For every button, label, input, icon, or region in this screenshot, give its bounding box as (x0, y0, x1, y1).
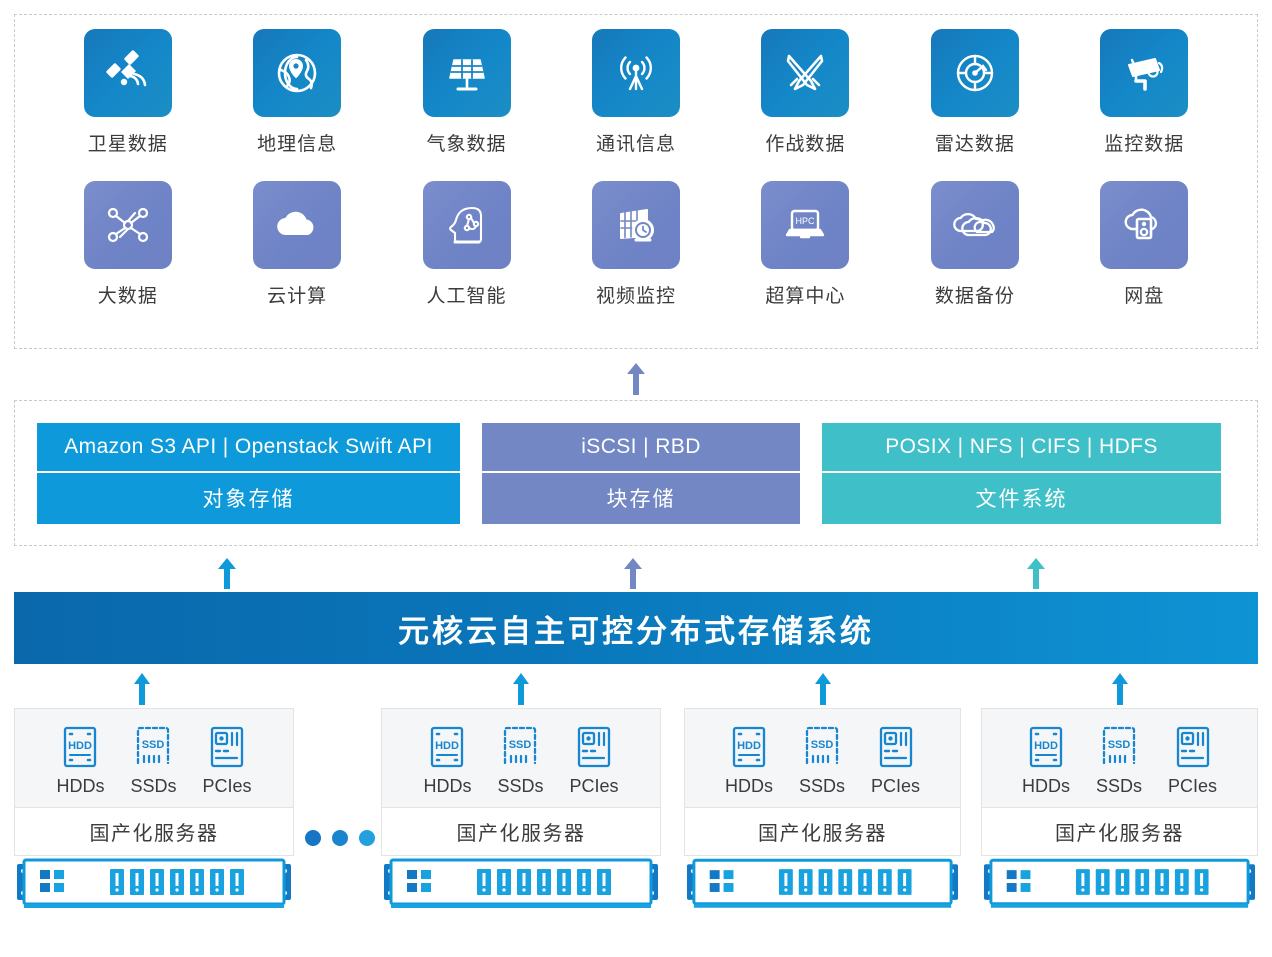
arrow-system-to-file-system (1022, 557, 1050, 590)
ellipsis-dot (332, 830, 348, 846)
svg-text:SSD: SSD (142, 739, 165, 751)
interface-name: 块存储 (482, 473, 800, 524)
app-item-geo-info[interactable]: 地理信息 (212, 29, 381, 181)
geo-globe-pin-icon (253, 29, 341, 117)
interface-api-list: iSCSI | RBD (482, 423, 800, 473)
antenna-signal-icon (592, 29, 680, 117)
svg-text:HDD: HDD (737, 740, 761, 752)
cloud-drive-icon (1100, 181, 1188, 269)
svg-text:SSD: SSD (1108, 739, 1131, 751)
interface-card-object-storage[interactable]: Amazon S3 API | Openstack Swift API 对象存储 (37, 423, 460, 524)
hpc-laptop-icon: HPC (761, 181, 849, 269)
arrow-server-3-to-system (810, 672, 836, 706)
app-label: 视频监控 (596, 281, 676, 308)
interface-card-file-system[interactable]: POSIX | NFS | CIFS | HDFS 文件系统 (822, 423, 1221, 524)
app-label: 雷达数据 (935, 129, 1015, 156)
app-item-cloud-drive[interactable]: 网盘 (1060, 181, 1229, 333)
crossed-swords-icon (761, 29, 849, 117)
server-name: 国产化服务器 (685, 807, 960, 855)
interface-api-list: POSIX | NFS | CIFS | HDFS (822, 423, 1221, 473)
server-card: HDD HDDs SSD SSDs (684, 708, 961, 856)
drive-ssd: SSD SSDs (497, 725, 543, 797)
app-label: 网盘 (1124, 281, 1164, 308)
app-label: 气象数据 (427, 129, 507, 156)
drive-ssd: SSD SSDs (1096, 725, 1142, 797)
server-name: 国产化服务器 (15, 807, 293, 855)
network-nodes-icon (84, 181, 172, 269)
drive-label: PCIes (202, 776, 251, 797)
server-name: 国产化服务器 (982, 807, 1257, 855)
app-label: 超算中心 (765, 281, 845, 308)
architecture-diagram: 卫星数据 地理信息 (0, 0, 1272, 957)
drive-label: PCIes (1168, 776, 1217, 797)
app-label: 数据备份 (935, 281, 1015, 308)
app-item-weather[interactable]: 气象数据 (382, 29, 551, 181)
storage-interface-row: Amazon S3 API | Openstack Swift API 对象存储… (15, 401, 1257, 545)
drive-pcie: PCIes (202, 725, 251, 797)
arrow-server-1-to-system (129, 672, 155, 706)
svg-text:SSD: SSD (811, 739, 834, 751)
server-group-3[interactable]: HDD HDDs SSD SSDs (684, 708, 961, 917)
storage-interface-panel: Amazon S3 API | Openstack Swift API 对象存储… (14, 400, 1258, 546)
rack-unit (381, 858, 661, 917)
interface-card-block-storage[interactable]: iSCSI | RBD 块存储 (482, 423, 800, 524)
satellite-icon (84, 29, 172, 117)
server-card: HDD HDDs SSD SSDs (381, 708, 661, 856)
ellipsis-dot (305, 830, 321, 846)
app-item-video-surveillance[interactable]: 视频监控 (551, 181, 720, 333)
app-item-hpc-center[interactable]: HPC 超算中心 (721, 181, 890, 333)
drive-list: HDD HDDs SSD SSDs (382, 709, 660, 807)
interface-name: 文件系统 (822, 473, 1221, 524)
server-group-4[interactable]: HDD HDDs SSD SSDs (981, 708, 1258, 917)
app-label: 监控数据 (1104, 129, 1184, 156)
hpc-screen-label: HPC (796, 216, 816, 226)
server-card: HDD HDDs SSD SSDs (14, 708, 294, 856)
arrow-interfaces-to-apps (621, 362, 651, 396)
server-group-2[interactable]: HDD HDDs SSD SSDs (381, 708, 661, 917)
drive-ssd: SSD SSDs (130, 725, 176, 797)
drive-pcie: PCIes (871, 725, 920, 797)
drive-label: SSDs (497, 776, 543, 797)
rack-unit (981, 858, 1258, 917)
app-label: 大数据 (98, 281, 158, 308)
drive-hdd: HDD HDDs (725, 725, 773, 797)
drive-label: SSDs (1096, 776, 1142, 797)
app-label: 作战数据 (765, 129, 845, 156)
arrow-server-4-to-system (1107, 672, 1133, 706)
ai-brain-head-icon (423, 181, 511, 269)
app-item-ai[interactable]: 人工智能 (382, 181, 551, 333)
app-label: 云计算 (267, 281, 327, 308)
film-clock-icon (592, 181, 680, 269)
rack-unit (684, 858, 961, 917)
app-item-cloud-computing[interactable]: 云计算 (212, 181, 381, 333)
server-name: 国产化服务器 (382, 807, 660, 855)
server-group-1[interactable]: HDD HDDs SSD SSDs (14, 708, 294, 917)
drive-ssd: SSD SSDs (799, 725, 845, 797)
ellipsis-dot (359, 830, 375, 846)
server-card: HDD HDDs SSD SSDs (981, 708, 1258, 856)
svg-text:HDD: HDD (1034, 740, 1058, 752)
drive-label: HDDs (1022, 776, 1070, 797)
system-banner: 元核云自主可控分布式存储系统 (14, 592, 1258, 664)
app-label: 通讯信息 (596, 129, 676, 156)
drive-label: PCIes (569, 776, 618, 797)
drive-label: HDDs (56, 776, 104, 797)
drive-label: SSDs (799, 776, 845, 797)
app-item-surveillance-data[interactable]: 监控数据 (1060, 29, 1229, 181)
drive-hdd: HDD HDDs (423, 725, 471, 797)
drive-list: HDD HDDs SSD SSDs (685, 709, 960, 807)
rack-unit (14, 858, 294, 917)
drive-label: PCIes (871, 776, 920, 797)
drive-label: HDDs (725, 776, 773, 797)
drive-label: SSDs (130, 776, 176, 797)
cloud-icon (253, 181, 341, 269)
interface-api-list: Amazon S3 API | Openstack Swift API (37, 423, 460, 473)
solar-panel-icon (423, 29, 511, 117)
svg-text:SSD: SSD (509, 739, 532, 751)
svg-text:HDD: HDD (69, 740, 93, 752)
arrow-system-to-block-storage (619, 557, 647, 590)
applications-panel: 卫星数据 地理信息 (14, 14, 1258, 349)
drive-hdd: HDD HDDs (1022, 725, 1070, 797)
app-item-radar[interactable]: 雷达数据 (890, 29, 1059, 181)
drive-pcie: PCIes (1168, 725, 1217, 797)
app-label: 人工智能 (427, 281, 507, 308)
interface-name: 对象存储 (37, 473, 460, 524)
system-title: 元核云自主可控分布式存储系统 (398, 606, 874, 651)
server-layer: HDD HDDs SSD SSDs (0, 708, 1272, 957)
drive-hdd: HDD HDDs (56, 725, 104, 797)
app-label: 地理信息 (257, 129, 337, 156)
drive-list: HDD HDDs SSD SSDs (15, 709, 293, 807)
app-item-combat-data[interactable]: 作战数据 (721, 29, 890, 181)
app-label: 卫星数据 (88, 129, 168, 156)
app-item-data-backup[interactable]: 数据备份 (890, 181, 1059, 333)
applications-grid: 卫星数据 地理信息 (15, 15, 1257, 348)
drive-pcie: PCIes (569, 725, 618, 797)
multi-cloud-backup-icon (931, 181, 1019, 269)
app-item-satellite[interactable]: 卫星数据 (43, 29, 212, 181)
app-item-big-data[interactable]: 大数据 (43, 181, 212, 333)
radar-target-icon (931, 29, 1019, 117)
security-camera-icon (1100, 29, 1188, 117)
svg-text:HDD: HDD (436, 740, 460, 752)
servers-ellipsis (305, 830, 375, 846)
drive-label: HDDs (423, 776, 471, 797)
drive-list: HDD HDDs SSD SSDs (982, 709, 1257, 807)
arrow-server-2-to-system (508, 672, 534, 706)
arrow-system-to-object-storage (213, 557, 241, 590)
app-item-communications[interactable]: 通讯信息 (551, 29, 720, 181)
